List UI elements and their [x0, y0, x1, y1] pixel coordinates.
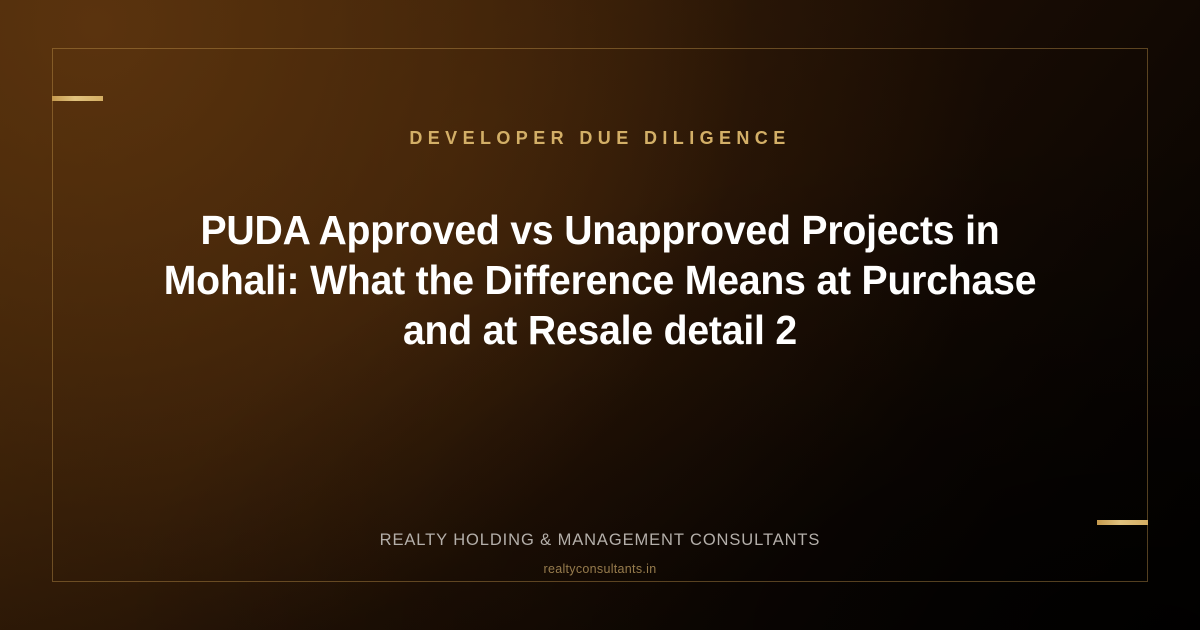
blog-cover-card: DEVELOPER DUE DILIGENCE PUDA Approved vs…	[0, 0, 1200, 630]
website-url: realtyconsultants.in	[0, 562, 1200, 576]
eyebrow-category-label: DEVELOPER DUE DILIGENCE	[409, 128, 790, 149]
brand-name: REALTY HOLDING & MANAGEMENT CONSULTANTS	[0, 531, 1200, 550]
cover-footer: REALTY HOLDING & MANAGEMENT CONSULTANTS …	[0, 531, 1200, 576]
page-title: PUDA Approved vs Unapproved Projects in …	[161, 205, 1040, 355]
